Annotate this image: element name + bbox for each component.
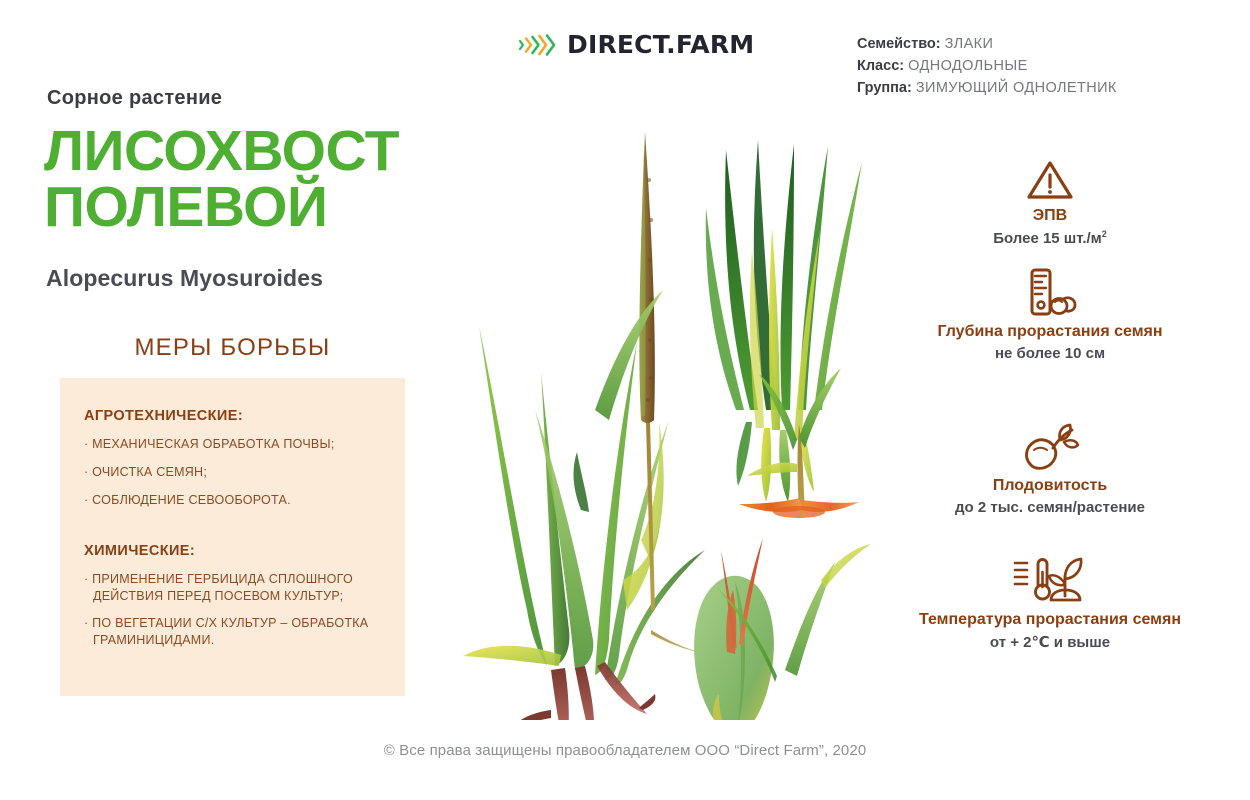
- measures-panel: АГРОТЕХНИЧЕСКИЕ: · МЕХАНИЧЕСКАЯ ОБРАБОТК…: [60, 378, 405, 696]
- illustration-base-crown: [508, 662, 656, 720]
- illustration-main-tussock: [463, 326, 705, 685]
- plant-illustration: [455, 110, 875, 720]
- meta-row-class: Класс: ОДНОДОЛЬНЫЕ: [857, 55, 1117, 77]
- brand-logo[interactable]: DIRECT.FARM: [517, 30, 754, 59]
- fact-label-depth: Глубина прорастания семян: [885, 323, 1215, 341]
- plant-illustration-svg: [455, 110, 875, 720]
- page-title-line1: ЛИСОХВОСТ: [44, 119, 399, 183]
- meta-value-group: ЗИМУЮЩИЙ ОДНОЛЕТНИК: [916, 80, 1117, 96]
- fact-label-epv: ЭПВ: [885, 207, 1215, 225]
- brand-name: DIRECT.FARM: [567, 30, 754, 59]
- illustration-dense-tuft: [706, 140, 862, 502]
- measures-item: · СОБЛЮДЕНИЕ СЕВООБОРОТА.: [84, 492, 381, 509]
- measures-group-title-chem: ХИМИЧЕСКИЕ:: [84, 543, 381, 559]
- page-kicker: Сорное растение: [47, 87, 222, 110]
- meta-value-class: ОДНОДОЛЬНЫЕ: [908, 58, 1028, 74]
- measures-item: · ПРИМЕНЕНИЕ ГЕРБИЦИДА СПЛОШНОГО ДЕЙСТВИ…: [84, 571, 381, 605]
- measures-heading: МЕРЫ БОРЬБЫ: [60, 334, 405, 362]
- fact-block-temperature: Температура прорастания семян от + 2℃ и …: [885, 550, 1215, 651]
- fact-value-depth: не более 10 см: [885, 345, 1215, 362]
- meta-row-family: Семейство: ЗЛАКИ: [857, 33, 1117, 55]
- ruler-seeds-icon: [885, 262, 1215, 318]
- meta-value-family: ЗЛАКИ: [945, 36, 994, 52]
- infographic-page: DIRECT.FARM Семейство: ЗЛАКИ Класс: ОДНО…: [0, 0, 1250, 800]
- meta-row-group: Группа: ЗИМУЮЩИЙ ОДНОЛЕТНИК: [857, 77, 1117, 99]
- fact-value-temperature: от + 2℃ и выше: [885, 633, 1215, 651]
- fact-value-fertility: до 2 тыс. семян/растение: [885, 499, 1215, 516]
- measures-item: · МЕХАНИЧЕСКАЯ ОБРАБОТКА ПОЧВЫ;: [84, 436, 381, 453]
- thermometer-sprout-icon: [885, 550, 1215, 606]
- sprouting-seed-icon: [885, 416, 1215, 472]
- footer-copyright: © Все права защищены правообладателем ОО…: [0, 742, 1250, 759]
- measures-item: · ОЧИСТКА СЕМЯН;: [84, 464, 381, 481]
- page-title: ЛИСОХВОСТ ПОЛЕВОЙ: [44, 124, 484, 236]
- page-title-line2: ПОЛЕВОЙ: [44, 180, 484, 236]
- measures-group-title-agro: АГРОТЕХНИЧЕСКИЕ:: [84, 408, 381, 424]
- fact-value-epv-text: Более 15 шт./м: [993, 230, 1102, 247]
- fact-value-epv: Более 15 шт./м2: [885, 229, 1215, 247]
- fact-block-depth: Глубина прорастания семян не более 10 см: [885, 262, 1215, 362]
- latin-name: Alopecurus Myosuroides: [46, 265, 323, 292]
- fact-value-epv-sup: 2: [1102, 229, 1107, 239]
- illustration-spikelet-detail: [694, 538, 774, 720]
- taxonomy-meta: Семейство: ЗЛАКИ Класс: ОДНОДОЛЬНЫЕ Груп…: [857, 33, 1117, 99]
- fact-block-epv: ЭПВ Более 15 шт./м2: [885, 146, 1215, 247]
- warning-triangle-icon: [885, 146, 1215, 202]
- meta-key-group: Группа:: [857, 80, 912, 96]
- chevrons-logo-icon: [517, 32, 557, 58]
- measures-item: · ПО ВЕГЕТАЦИИ С/Х КУЛЬТУР – ОБРАБОТКА Г…: [84, 615, 381, 649]
- fact-block-fertility: Плодовитость до 2 тыс. семян/растение: [885, 416, 1215, 516]
- fact-label-fertility: Плодовитость: [885, 477, 1215, 495]
- meta-key-family: Семейство:: [857, 36, 941, 52]
- fact-label-temperature: Температура прорастания семян: [885, 611, 1215, 629]
- meta-key-class: Класс:: [857, 58, 904, 74]
